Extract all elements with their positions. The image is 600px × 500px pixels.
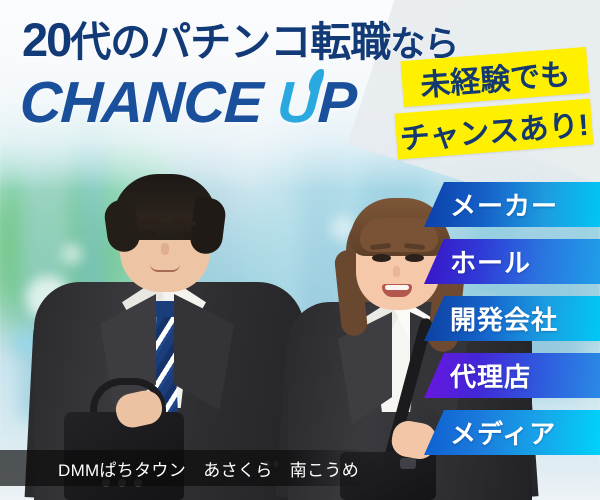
credits-bar: DMMぱちタウン あさくら 南こうめ xyxy=(0,450,372,486)
headline-middle: 代のパチンコ転職 xyxy=(70,19,390,65)
male-hair-side-right xyxy=(189,196,228,255)
female-eye-left xyxy=(372,254,391,262)
female-teeth xyxy=(385,285,409,290)
female-handbag-clasp xyxy=(400,458,416,469)
category-button-media[interactable]: メディア xyxy=(424,410,600,455)
headline-text: 20代のパチンコ転職なら xyxy=(22,16,458,63)
category-label: 開発会社 xyxy=(450,300,558,337)
male-eye-left xyxy=(137,231,157,238)
male-nose xyxy=(161,243,169,255)
category-label: メーカー xyxy=(450,186,558,223)
credits-text: DMMぱちタウン あさくら 南こうめ xyxy=(58,456,359,481)
recruitment-banner-ad[interactable]: 20代のパチンコ転職なら CHANCE UP 未経験でも チャンスあり! メーカ… xyxy=(0,0,600,500)
male-necktie-knot xyxy=(153,301,177,317)
category-button-development-company[interactable]: 開発会社 xyxy=(424,296,600,341)
category-button-agency[interactable]: 代理店 xyxy=(424,353,600,398)
headline-number: 20 xyxy=(22,13,70,66)
male-eye-right xyxy=(174,231,194,238)
female-nose xyxy=(393,266,400,277)
highlight-badge: 未経験でも チャンスあり! xyxy=(396,52,592,164)
logo-text-first: CHANCE xyxy=(18,70,279,135)
category-label: ホール xyxy=(450,243,531,280)
female-eye-right xyxy=(405,254,424,262)
logo-letter-u-accent: U xyxy=(276,74,320,132)
male-model xyxy=(34,160,304,500)
category-label: メディア xyxy=(450,414,556,451)
category-button-hall[interactable]: ホール xyxy=(424,239,600,284)
category-button-maker[interactable]: メーカー xyxy=(424,182,600,227)
category-button-list: メーカー ホール 開発会社 代理店 メディア xyxy=(424,182,600,467)
badge-line-1: 未経験でも xyxy=(401,47,590,107)
badge-line-2: チャンスあり! xyxy=(395,99,594,160)
category-label: 代理店 xyxy=(450,357,531,394)
chance-up-logo: CHANCE UP xyxy=(18,74,357,132)
male-mouth xyxy=(150,264,180,272)
